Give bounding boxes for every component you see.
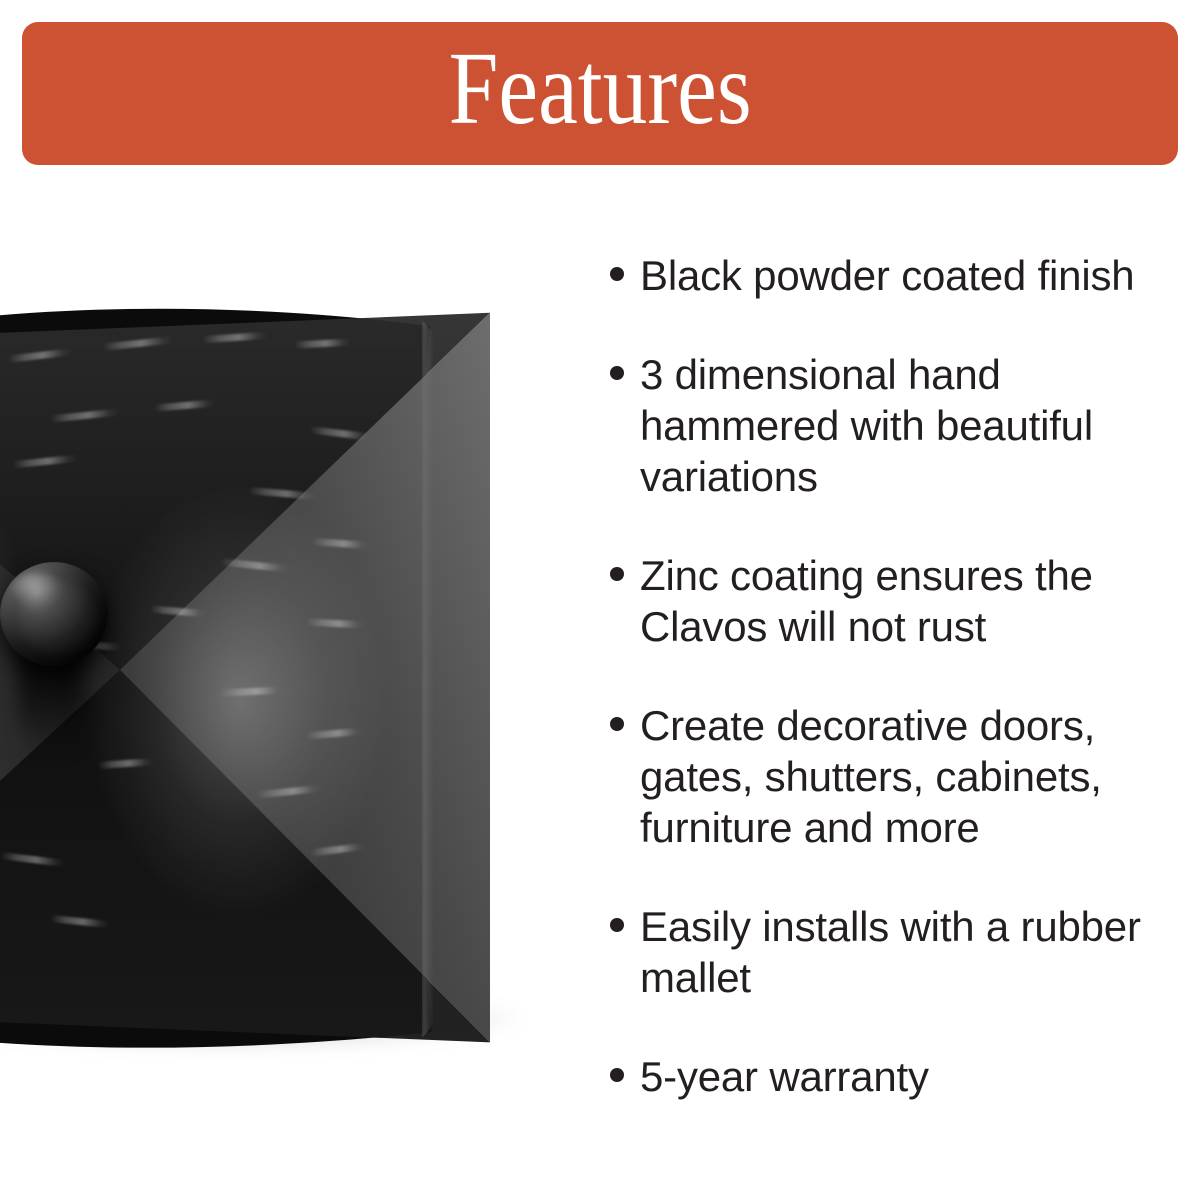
list-item: Create decorative doors, gates, shutters… [600,700,1180,853]
clavos-edge-rim [422,320,434,1038]
feature-text: 3 dimensional hand hammered with beautif… [640,349,1180,502]
bullet-icon [610,366,624,380]
list-item: 3 dimensional hand hammered with beautif… [600,349,1180,502]
bullet-icon [610,267,624,281]
list-item: 5-year warranty [600,1051,1180,1102]
product-image-clavos [0,270,540,1080]
page-title: Features [448,37,751,151]
feature-text: Zinc coating ensures the Clavos will not… [640,550,1180,652]
feature-text: Create decorative doors, gates, shutters… [640,700,1180,853]
bullet-icon [610,918,624,932]
clavos-illustration [0,290,490,1050]
bullet-icon [610,717,624,731]
bullet-icon [610,1068,624,1082]
list-item: Zinc coating ensures the Clavos will not… [600,550,1180,652]
feature-text: Black powder coated finish [640,250,1134,301]
features-list: Black powder coated finish 3 dimensional… [600,250,1180,1150]
feature-text: 5-year warranty [640,1051,929,1102]
feature-text: Easily installs with a rubber mallet [640,901,1180,1003]
bullet-icon [610,567,624,581]
list-item: Easily installs with a rubber mallet [600,901,1180,1003]
features-header-banner: Features [22,22,1178,165]
clavos-dome-highlight [12,572,64,606]
list-item: Black powder coated finish [600,250,1180,301]
